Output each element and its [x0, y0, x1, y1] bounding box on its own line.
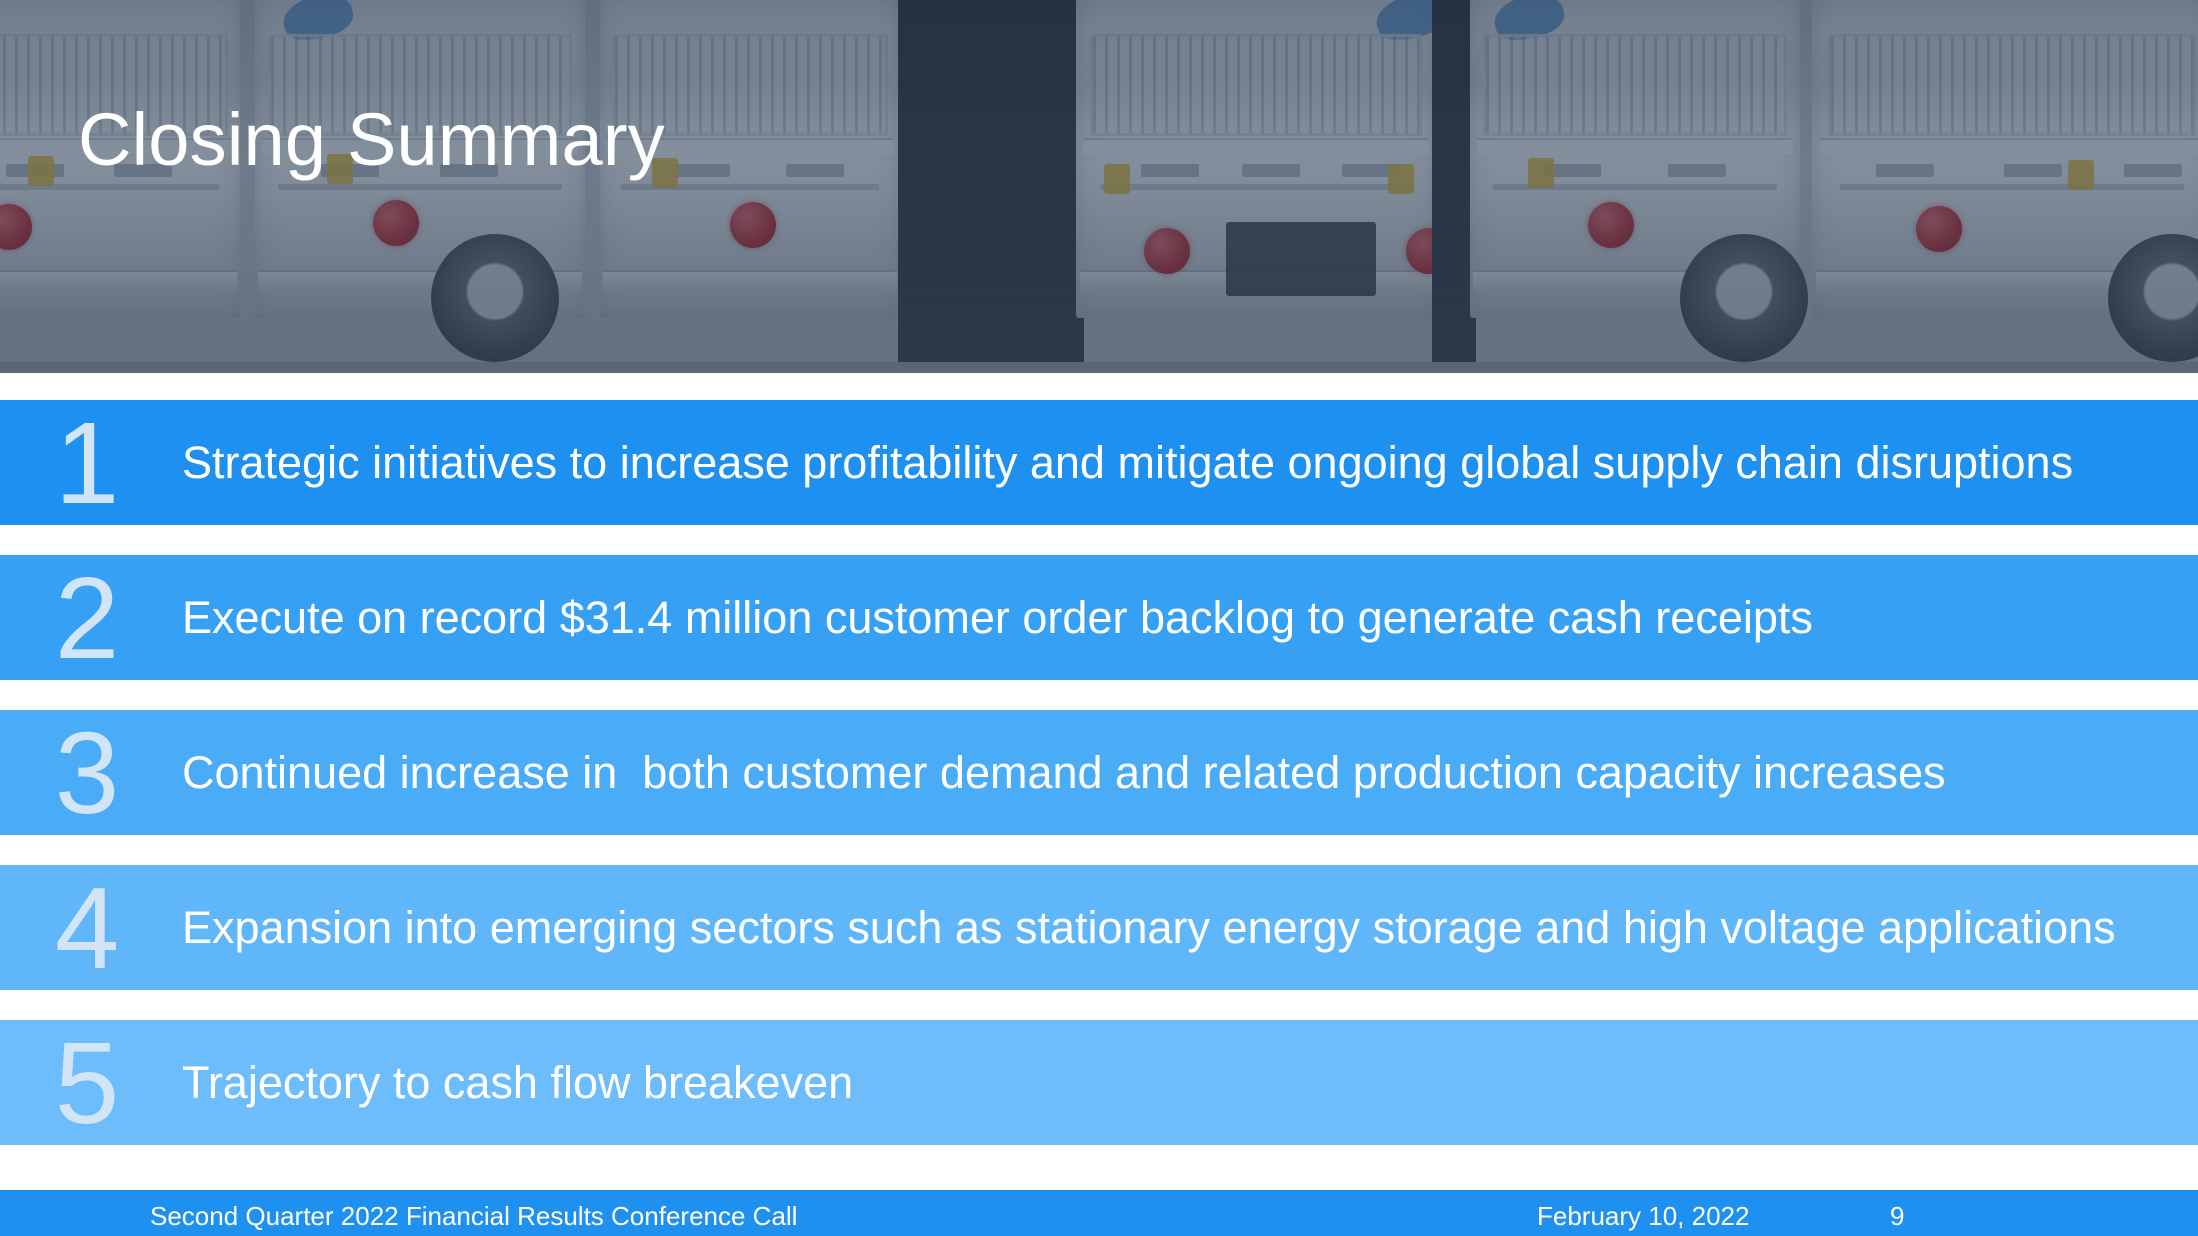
- point-number-4: 4: [0, 870, 130, 986]
- summary-point-2[interactable]: 2 Execute on record $31.4 million custom…: [0, 555, 2198, 680]
- summary-point-1[interactable]: 1 Strategic initiatives to increase prof…: [0, 400, 2198, 525]
- footer-date: February 10, 2022: [1537, 1201, 1749, 1232]
- summary-points-list: 1 Strategic initiatives to increase prof…: [0, 400, 2198, 1175]
- header-banner: Closing Summary: [0, 0, 2198, 362]
- point-text-3: Continued increase in both customer dema…: [130, 747, 2198, 799]
- summary-point-4[interactable]: 4 Expansion into emerging sectors such a…: [0, 865, 2198, 990]
- point-text-2: Execute on record $31.4 million customer…: [130, 592, 2198, 644]
- footer-presentation-title: Second Quarter 2022 Financial Results Co…: [150, 1201, 797, 1232]
- summary-point-3[interactable]: 3 Continued increase in both customer de…: [0, 710, 2198, 835]
- point-text-5: Trajectory to cash flow breakeven: [130, 1057, 2198, 1109]
- footer-page-number: 9: [1890, 1201, 1904, 1232]
- slide-footer: Second Quarter 2022 Financial Results Co…: [0, 1190, 2198, 1236]
- point-text-4: Expansion into emerging sectors such as …: [130, 902, 2198, 954]
- slide: Closing Summary 1 Strategic initiatives …: [0, 0, 2198, 1236]
- truck-fleet-photo: [0, 0, 2198, 362]
- point-text-1: Strategic initiatives to increase profit…: [130, 437, 2198, 489]
- point-number-1: 1: [0, 405, 130, 521]
- point-number-5: 5: [0, 1025, 130, 1141]
- banner-divider: [0, 362, 2198, 373]
- summary-point-5[interactable]: 5 Trajectory to cash flow breakeven: [0, 1020, 2198, 1145]
- point-number-3: 3: [0, 715, 130, 831]
- point-number-2: 2: [0, 560, 130, 676]
- photo-overlay-tint: [0, 0, 2198, 362]
- page-title: Closing Summary: [78, 103, 665, 177]
